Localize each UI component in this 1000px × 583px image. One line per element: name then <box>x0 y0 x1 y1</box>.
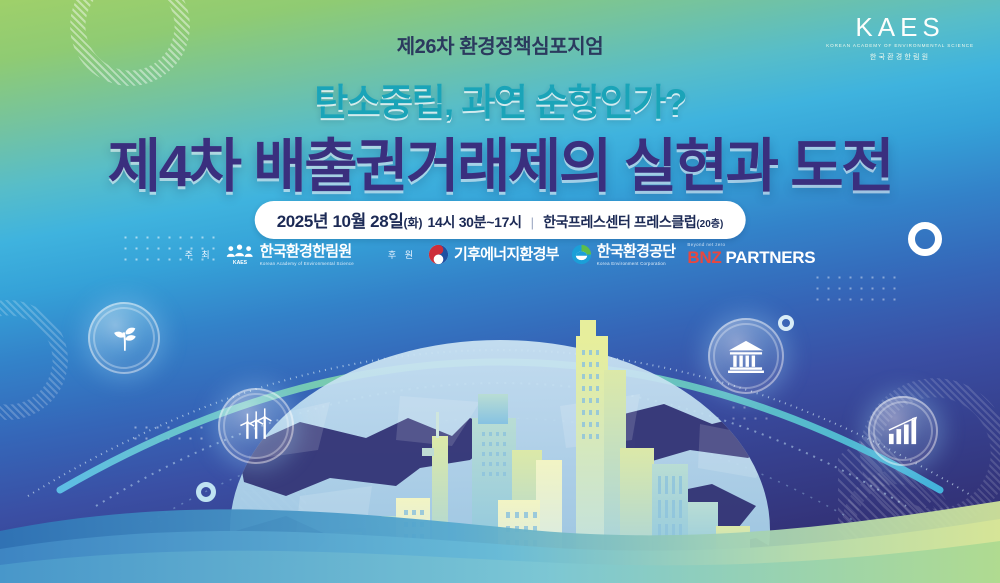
bank-icon <box>727 339 765 373</box>
bnz-letters-bn: BN <box>687 248 711 267</box>
event-venue-floor: (20층) <box>696 215 723 230</box>
badge-emissions-market <box>868 396 938 466</box>
event-date: 2025년 10월 28일 <box>277 207 404 232</box>
event-day-of-week: (화) <box>404 214 423 231</box>
partner-logo-bnz: Beyond net zero BNZPARTNERS <box>687 243 815 266</box>
host-name-english: Korean Academy of Environmental Science <box>260 261 354 266</box>
bnz-letter-z: Z <box>711 248 721 267</box>
supporter-name-ministry: 기후에너지환경부 <box>454 247 559 263</box>
event-time: 14시 30분~17시 <box>428 212 522 232</box>
host-name-korean: 한국환경한림원 <box>260 244 354 260</box>
keco-circle-icon <box>571 244 592 265</box>
poster-headline: 제4차 배출권거래제의 실현과 도전 <box>0 119 1000 203</box>
host-label: 주 최 <box>185 248 213 261</box>
sponsor-row: 주 최 KAES 한국환경한림원 Korean Academy of Envir… <box>0 243 1000 266</box>
supporter-logo-keco: 한국환경공단 Korea Environment Corporation <box>571 244 676 266</box>
ring-accent <box>778 315 794 331</box>
poster-subtitle: 탄소중립, 과연 순항인가? <box>0 72 1000 126</box>
wave-decoration <box>0 473 1000 583</box>
wind-turbine-icon <box>237 407 275 445</box>
leaf-icon <box>107 321 141 355</box>
svg-text:KAES: KAES <box>233 260 248 266</box>
badge-green-growth <box>88 302 160 374</box>
bar-chart-growth-icon <box>886 416 920 446</box>
supporter-name-keco-english: Korea Environment Corporation <box>597 261 676 266</box>
event-venue: 한국프레스센터 프레스클럽 <box>543 212 696 232</box>
badge-renewable-energy <box>218 388 294 464</box>
event-series-label: 제26차 환경정책심포지엄 <box>0 30 1000 59</box>
pill-divider: | <box>531 215 534 230</box>
symposium-poster: KAES KOREAN ACADEMY OF ENVIRONMENTAL SCI… <box>0 0 1000 583</box>
kaes-people-icon: KAES <box>225 244 255 266</box>
bnz-word-partners: PARTNERS <box>725 248 815 267</box>
support-label: 후 원 <box>388 248 416 261</box>
host-logo-kaes: KAES 한국환경한림원 Korean Academy of Environme… <box>225 244 354 266</box>
ring-accent <box>196 482 216 502</box>
schedule-pill: 2025년 10월 28일 (화) 14시 30분~17시 | 한국프레스센터 … <box>255 201 746 239</box>
supporter-logo-ministry: 기후에너지환경부 <box>428 244 559 265</box>
supporter-name-keco: 한국환경공단 <box>597 244 676 260</box>
taegeuk-icon <box>428 244 449 265</box>
badge-policy-institution <box>708 318 784 394</box>
bnz-tagline: Beyond net zero <box>687 243 815 247</box>
